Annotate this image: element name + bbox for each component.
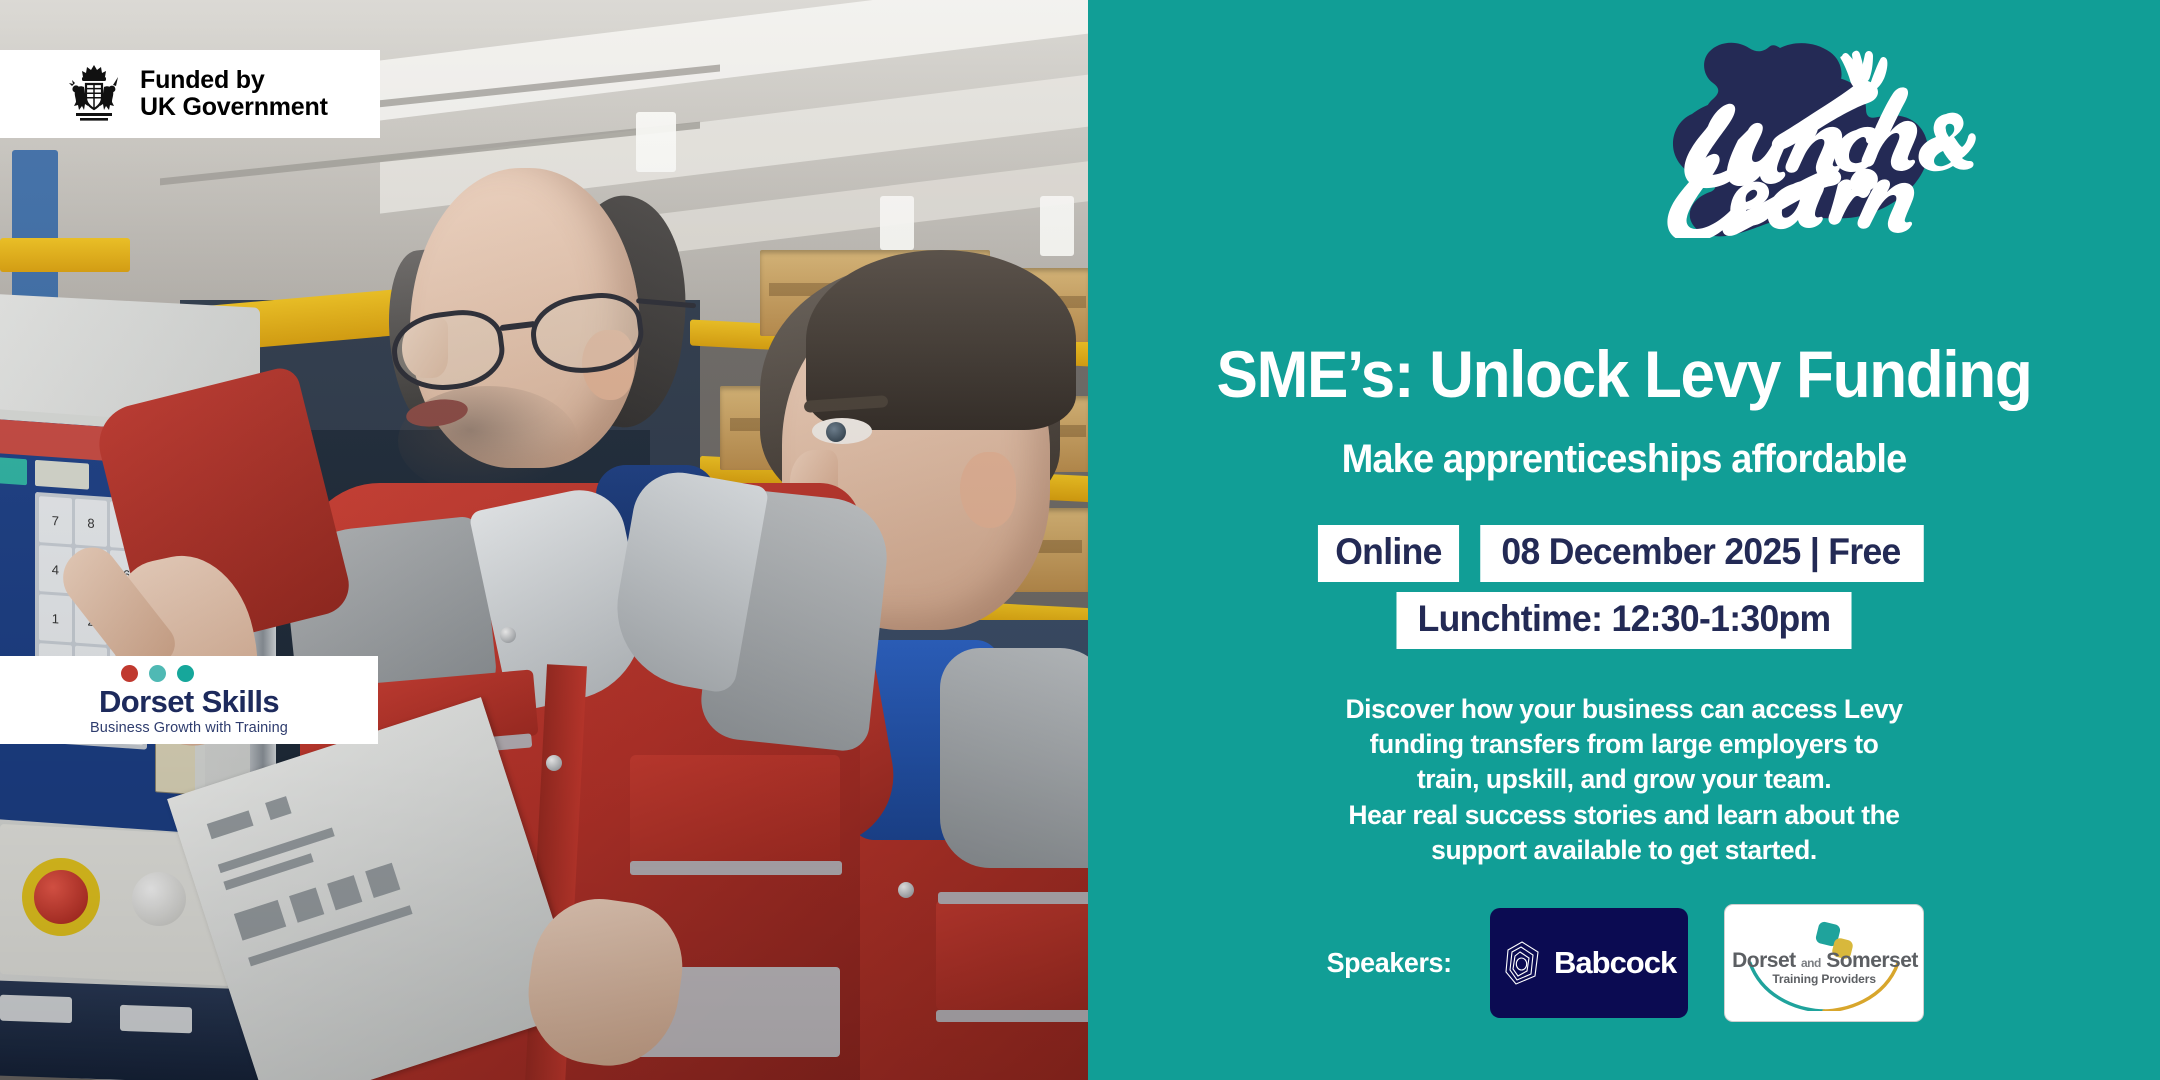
rack-beam: [0, 238, 130, 272]
babcock-wordmark: Babcock: [1554, 945, 1676, 981]
dorset-skills-tagline: Business Growth with Training: [90, 720, 288, 736]
dstp-wordmark: Dorset and Somerset: [1732, 949, 1916, 973]
babcock-logo: Babcock: [1490, 908, 1688, 1018]
dot-light-teal-icon: [149, 665, 166, 682]
machine-button: [132, 872, 186, 926]
funded-by-text: Funded by UK Government: [140, 67, 328, 121]
hmi-tab: [0, 456, 27, 486]
reflective-stripe: [630, 861, 842, 875]
description-line: funding transfers from large employers t…: [1304, 727, 1944, 762]
ceiling-lamp: [1040, 196, 1074, 256]
dorset-and-somerset-training-providers-logo: Dorset and Somerset Training Providers: [1724, 904, 1924, 1022]
keypad-key: 1: [39, 594, 72, 642]
keypad-key: 8: [75, 499, 108, 547]
description-line: Hear real success stories and learn abou…: [1304, 798, 1944, 833]
hmi-tab: [35, 460, 89, 490]
dstp-word1: Dorset: [1732, 949, 1796, 972]
event-description: Discover how your business can access Le…: [1304, 692, 1944, 868]
event-poster: 7 8 9 4 5 6 1 2 3 0 . C Enter: [0, 0, 2160, 1080]
dorset-skills-title: Dorset Skills: [99, 686, 279, 717]
location-chip: Online: [1318, 525, 1459, 582]
worker2-shoulder-panel: [940, 648, 1088, 868]
jacket-stud: [500, 627, 516, 643]
jacket-stud: [546, 755, 562, 771]
dot-red-icon: [121, 665, 138, 682]
speakers-label: Speakers:: [1326, 947, 1451, 979]
lunch-and-learn-script-logo: [1580, 18, 2000, 238]
toolbox: [0, 980, 270, 1080]
uk-royal-crest-icon: [66, 63, 122, 125]
dstp-word2: Somerset: [1826, 949, 1918, 972]
time-chip: Lunchtime: 12:30-1:30pm: [1396, 592, 1851, 649]
event-details: Online 08 December 2025 | Free Lunchtime…: [1088, 525, 2160, 649]
hmi-side-button: [155, 737, 205, 796]
glasses-lens: [388, 305, 509, 396]
reflective-stripe: [936, 1010, 1088, 1022]
dot-teal-icon: [177, 665, 194, 682]
page-title: SME’s: Unlock Levy Funding: [1120, 336, 2128, 412]
event-time-row: Lunchtime: 12:30-1:30pm: [1387, 592, 1861, 649]
funded-by-line2: UK Government: [140, 94, 328, 121]
worker1-pocket: [630, 755, 840, 870]
description-line: support available to get started.: [1304, 833, 1944, 868]
event-details-row: Online 08 December 2025 | Free: [1315, 525, 1934, 582]
worker2-pupil: [826, 422, 846, 442]
jacket-stud: [898, 882, 914, 898]
dstp-subtitle: Training Providers: [1732, 972, 1916, 986]
emergency-stop-button: [22, 858, 100, 936]
dorset-skills-logo: Dorset Skills Business Growth with Train…: [0, 656, 378, 744]
toolbox-latch: [120, 1005, 192, 1034]
description-line: Discover how your business can access Le…: [1304, 692, 1944, 727]
hero-photo: 7 8 9 4 5 6 1 2 3 0 . C Enter: [0, 0, 1088, 1080]
worker2-ear: [960, 452, 1016, 528]
speakers-section: Speakers: Babcock: [1088, 898, 2160, 1028]
ceiling-lamp: [636, 112, 676, 172]
dorset-skills-dots: [121, 665, 194, 682]
reflective-stripe: [938, 892, 1088, 904]
page-subtitle: Make apprenticeships affordable: [1115, 437, 2133, 482]
ceiling-lamp: [880, 196, 914, 250]
content-panel: SME’s: Unlock Levy Funding Make apprenti…: [1088, 0, 2160, 1080]
date-price-chip: 08 December 2025 | Free: [1481, 525, 1924, 582]
babcock-mark-icon: [1502, 940, 1542, 986]
funded-by-line1: Funded by: [140, 67, 328, 94]
keypad-key: 7: [39, 496, 72, 544]
dstp-connector: and: [1801, 956, 1821, 970]
description-line: train, upskill, and grow your team.: [1304, 762, 1944, 797]
toolbox-latch: [0, 995, 72, 1024]
funded-by-uk-government-badge: Funded by UK Government: [0, 50, 380, 138]
worker2-pocket: [936, 900, 1088, 1010]
glasses-lens: [527, 288, 648, 379]
